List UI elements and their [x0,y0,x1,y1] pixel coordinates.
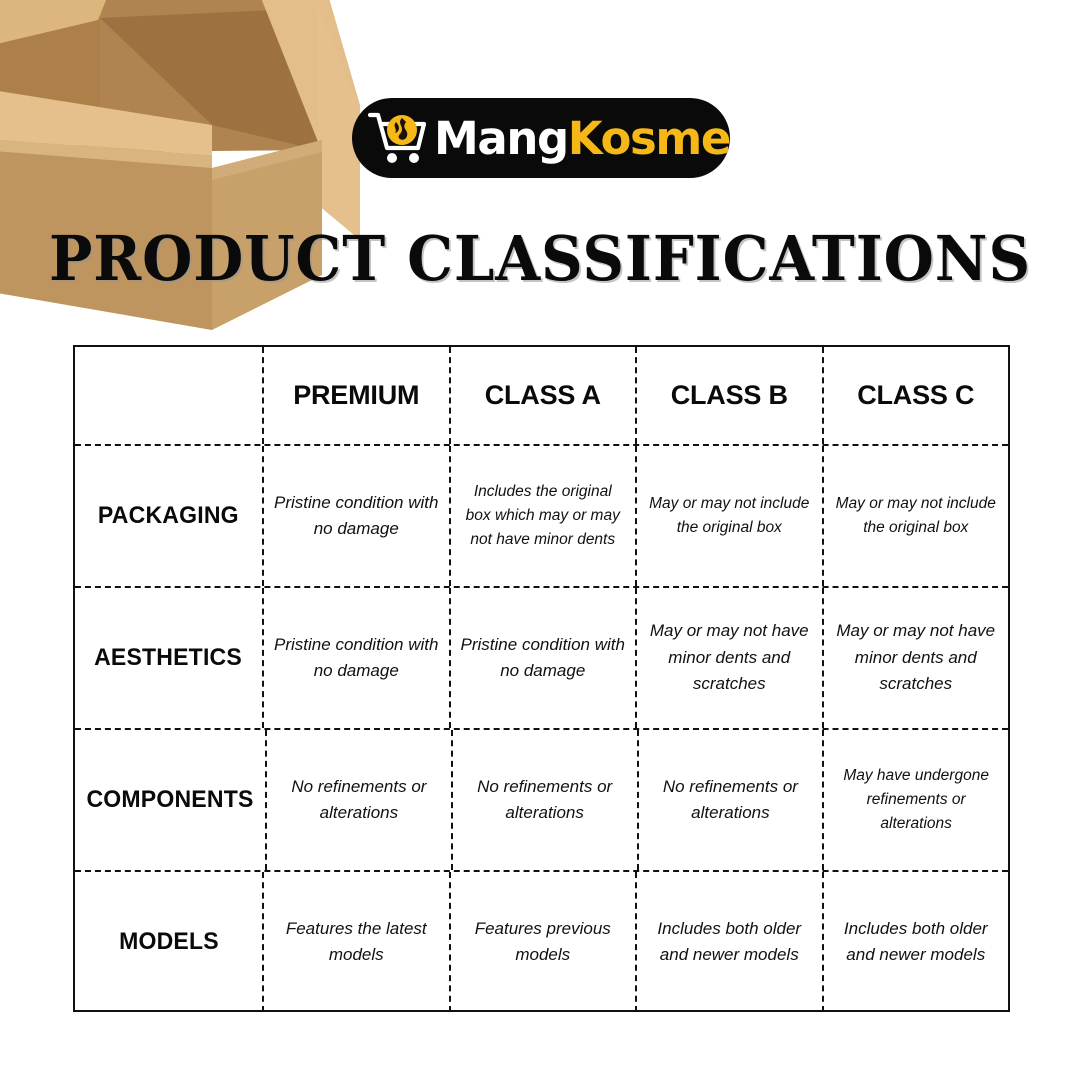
row-label-cell: COMPONENTS [75,730,265,870]
table-row: AESTHETICS Pristine condition with no da… [75,586,1008,728]
table-corner-cell [75,347,262,444]
table-cell: No refinements or alterations [265,730,451,870]
table-row: COMPONENTS No refinements or alterations… [75,728,1008,870]
box-flap-back-left [0,0,108,48]
column-header-label: CLASS A [485,380,601,411]
column-header-label: CLASS B [671,380,788,411]
table-cell: Features the latest models [262,872,449,1012]
row-label-cell: AESTHETICS [75,588,262,728]
box-interior-left [0,18,100,150]
cell-text: Pristine condition with no damage [272,632,441,685]
table-cell: Features previous models [449,872,636,1012]
table-cell: May or may not include the original box [635,446,822,586]
table-cell: May have undergone refinements or altera… [822,730,1008,870]
flame-emblem-icon [387,115,417,145]
column-header-class-b: CLASS B [635,347,822,444]
row-label: PACKAGING [98,502,239,530]
logo-text-kosme: Kosme [568,116,730,161]
table-cell: May or may not include the original box [822,446,1009,586]
table-cell: Includes both older and newer models [635,872,822,1012]
row-label-cell: MODELS [75,872,262,1012]
cart-wheel-right [409,153,419,163]
box-right-face-lip [212,140,322,180]
table-cell: Includes both older and newer models [822,872,1009,1012]
row-label-cell: PACKAGING [75,446,262,586]
table-header-row: PREMIUM CLASS A CLASS B CLASS C [75,347,1008,444]
cell-text: No refinements or alterations [647,774,815,827]
logo-text-mang: Mang [434,116,568,161]
row-label: AESTHETICS [95,644,243,672]
column-header-class-c: CLASS C [822,347,1009,444]
box-interior-shadow [100,8,318,150]
cell-text: Pristine condition with no damage [272,490,441,543]
cell-text: May or may not include the original box [833,492,998,540]
box-flap-front-left [0,88,212,155]
table-cell: May or may not have minor dents and scra… [635,588,822,728]
shopping-cart-icon [368,110,430,166]
table-cell: No refinements or alterations [451,730,637,870]
brand-logo[interactable]: Mang Kosme [352,98,730,178]
cell-text: Includes both older and newer models [832,916,1001,969]
cell-text: May or may not include the original box [647,492,812,540]
row-label: MODELS [119,928,219,956]
cell-text: Features previous models [459,916,628,969]
table-row: MODELS Features the latest models Featur… [75,870,1008,1012]
cell-text: May or may not have minor dents and scra… [832,618,1001,697]
cell-text: May or may not have minor dents and scra… [645,618,814,697]
cell-text: Features the latest models [272,916,441,969]
table-cell: Pristine condition with no damage [262,446,449,586]
table-cell: No refinements or alterations [637,730,823,870]
row-label: COMPONENTS [86,786,253,814]
table-row: PACKAGING Pristine condition with no dam… [75,444,1008,586]
table-cell: May or may not have minor dents and scra… [822,588,1009,728]
column-header-label: CLASS C [857,380,974,411]
table-cell: Includes the original box which may or m… [449,446,636,586]
column-header-class-a: CLASS A [449,347,636,444]
column-header-label: PREMIUM [293,380,419,411]
cell-text: No refinements or alterations [275,774,443,827]
cell-text: Includes the original box which may or m… [460,480,625,552]
table-cell: Pristine condition with no damage [449,588,636,728]
cell-text: Includes both older and newer models [645,916,814,969]
page-title: PRODUCT CLASSIFICATIONS [38,222,1042,295]
box-flap-front-left-edge [0,138,212,170]
table-cell: Pristine condition with no damage [262,588,449,728]
poster-canvas: Mang Kosme PRODUCT CLASSIFICATIONS PREMI… [0,0,1080,1080]
column-header-premium: PREMIUM [262,347,449,444]
product-classification-table: PREMIUM CLASS A CLASS B CLASS C PACKAGIN… [73,345,1010,1012]
cell-text: Pristine condition with no damage [459,632,628,685]
box-flap-right-top [246,0,360,152]
cell-text: May have undergone refinements or altera… [834,764,999,836]
cart-wheel-left [387,153,397,163]
box-interior-back [0,0,330,152]
cell-text: No refinements or alterations [461,774,629,827]
